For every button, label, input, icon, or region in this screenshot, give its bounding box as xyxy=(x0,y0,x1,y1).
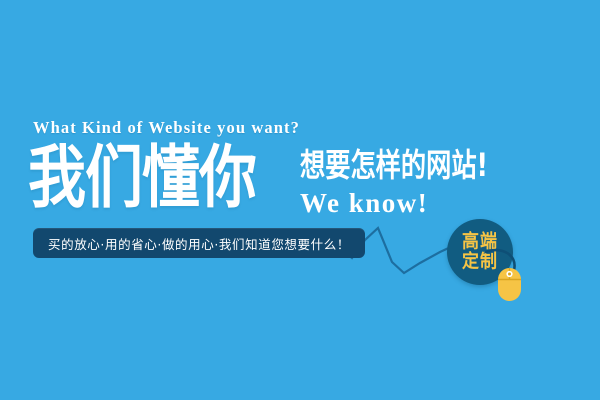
subtitle-bar-text: 买的放心·用的省心·做的用心·我们知道您想要什么！ xyxy=(48,234,350,253)
right-column-english: We know! xyxy=(300,188,494,218)
computer-mouse-icon xyxy=(478,248,538,310)
right-column-chinese: 想要怎样的网站! xyxy=(300,148,488,185)
subtitle-bar: 买的放心·用的省心·做的用心·我们知道您想要什么！ xyxy=(33,228,365,258)
right-column: 想要怎样的网站! We know! xyxy=(300,148,494,218)
tagline: What Kind of Website you want? xyxy=(33,118,300,138)
promo-banner: What Kind of Website you want? 我们懂你 想要怎样… xyxy=(0,0,600,400)
page-title: 我们懂你 xyxy=(28,143,256,211)
